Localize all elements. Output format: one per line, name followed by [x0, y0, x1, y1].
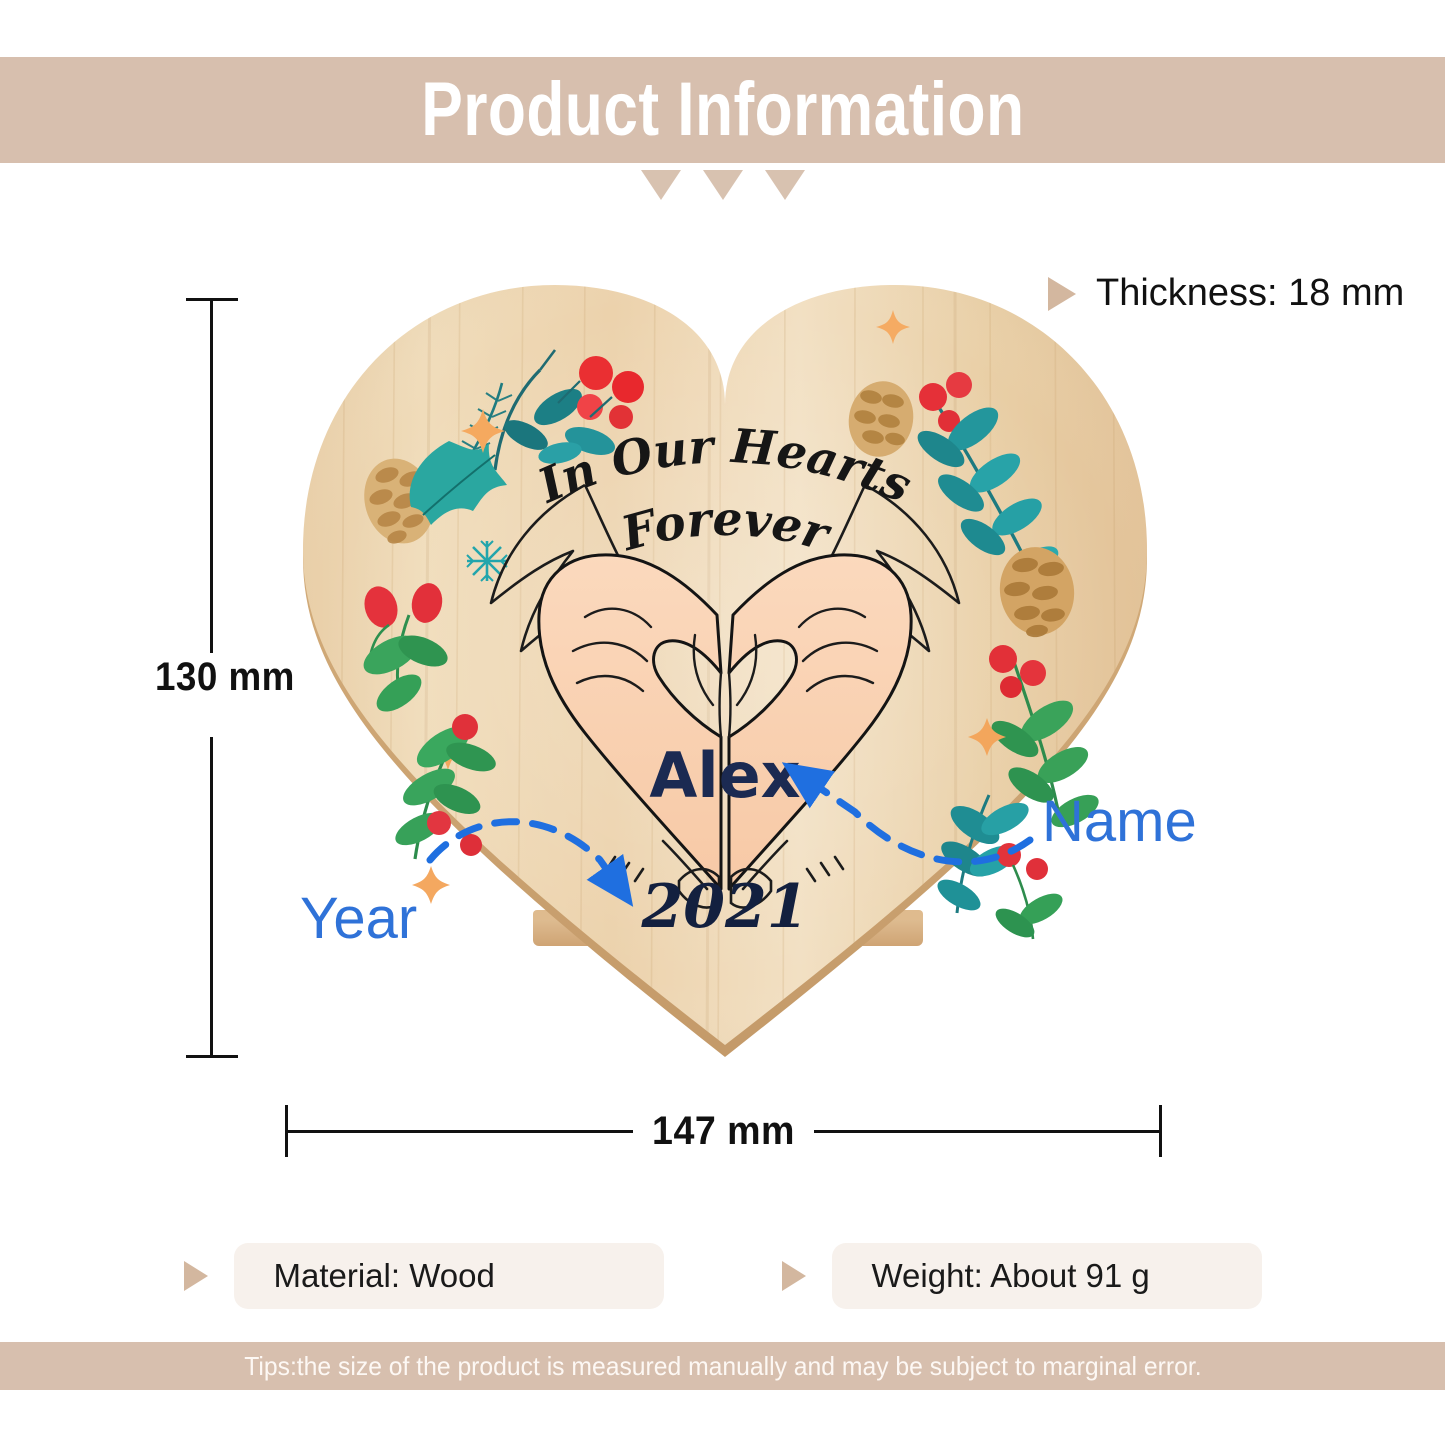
triangle-right-icon [184, 1261, 208, 1291]
spec-row: Material: Wood Weight: About 91 g [0, 1243, 1445, 1309]
annotation-arrows [0, 0, 1445, 1445]
width-label: 147 mm [311, 1105, 1135, 1157]
spec-weight: Weight: About 91 g [782, 1243, 1262, 1309]
width-dimension-line: 147 mm [285, 1105, 1162, 1157]
year-annotation-label: Year [300, 890, 417, 948]
dimension-cap-right [1159, 1105, 1162, 1157]
spec-weight-box: Weight: About 91 g [832, 1243, 1262, 1309]
footer-tip: Tips:the size of the product is measured… [244, 1351, 1201, 1382]
spec-material: Material: Wood [184, 1243, 664, 1309]
spec-material-label: Material: Wood [274, 1257, 495, 1295]
spec-material-box: Material: Wood [234, 1243, 664, 1309]
footer-band: Tips:the size of the product is measured… [0, 1342, 1445, 1390]
triangle-right-icon [782, 1261, 806, 1291]
product-information-page: Product Information Thickness: 18 mm 130… [0, 0, 1445, 1445]
spec-weight-label: Weight: About 91 g [872, 1257, 1150, 1295]
name-annotation-label: Name [1042, 793, 1197, 851]
year-arrow [430, 822, 617, 884]
name-arrow [805, 778, 1030, 862]
